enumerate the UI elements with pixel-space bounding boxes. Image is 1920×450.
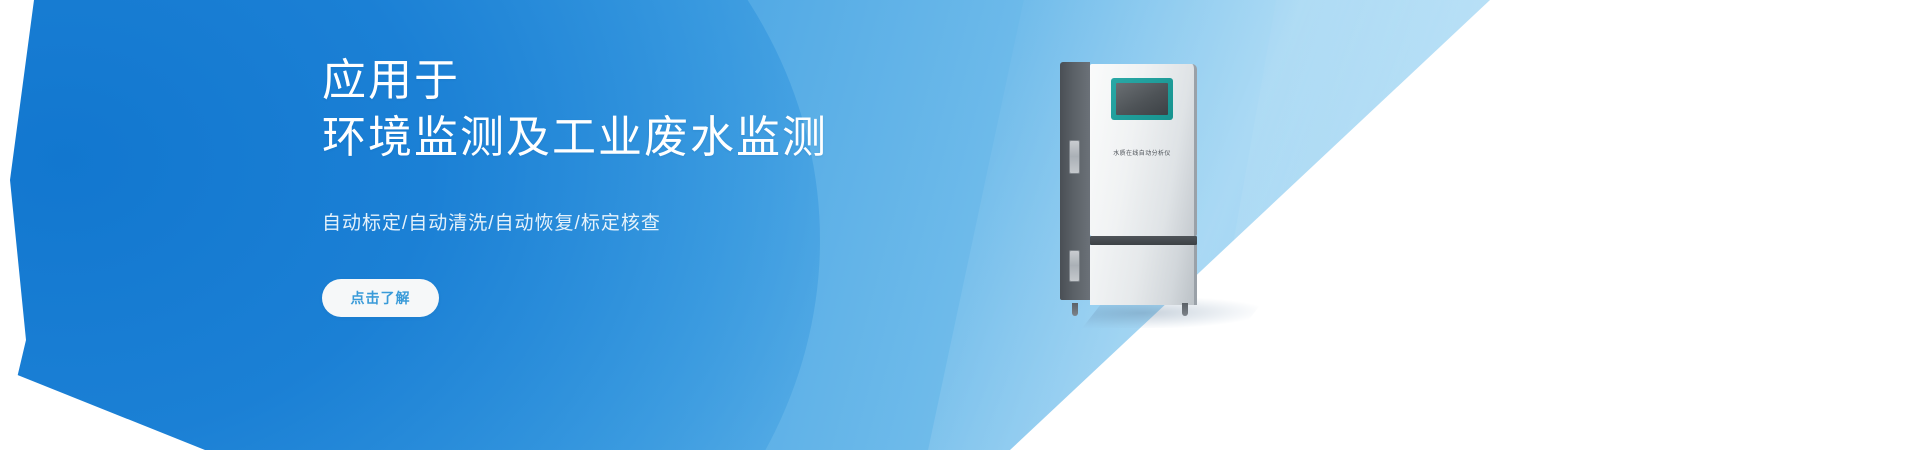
banner-subtitle: 自动标定/自动清洗/自动恢复/标定核查 xyxy=(322,166,1082,235)
banner-headline: 应用于环境监测及工业废水监测 xyxy=(322,52,1082,166)
learn-more-button[interactable]: 点击了解 xyxy=(322,279,439,317)
device-foot-right xyxy=(1182,303,1188,316)
door-handle-icon xyxy=(1069,140,1080,174)
device-lower-cabinet xyxy=(1090,245,1197,305)
display-panel-icon xyxy=(1111,78,1173,120)
device-cabinet-divider xyxy=(1090,236,1197,245)
product-image-water-quality-analyzer: 水质在线自动分析仪 xyxy=(1060,62,1210,320)
device-upper-cabinet: 水质在线自动分析仪 xyxy=(1090,64,1197,236)
door-handle-lower-icon xyxy=(1069,250,1080,282)
hero-banner: 应用于环境监测及工业废水监测 自动标定/自动清洗/自动恢复/标定核查 点击了解 … xyxy=(0,0,1920,450)
banner-copy-block: 应用于环境监测及工业废水监测 自动标定/自动清洗/自动恢复/标定核查 点击了解 xyxy=(322,52,1082,317)
device-side-panel xyxy=(1060,62,1090,300)
display-screen-surface xyxy=(1116,83,1168,115)
device-foot-left xyxy=(1072,303,1078,316)
headline-line-2: 环境监测及工业废水监测 xyxy=(322,109,1082,166)
device-front-label: 水质在线自动分析仪 xyxy=(1090,148,1194,157)
headline-line-1: 应用于 xyxy=(322,56,460,105)
